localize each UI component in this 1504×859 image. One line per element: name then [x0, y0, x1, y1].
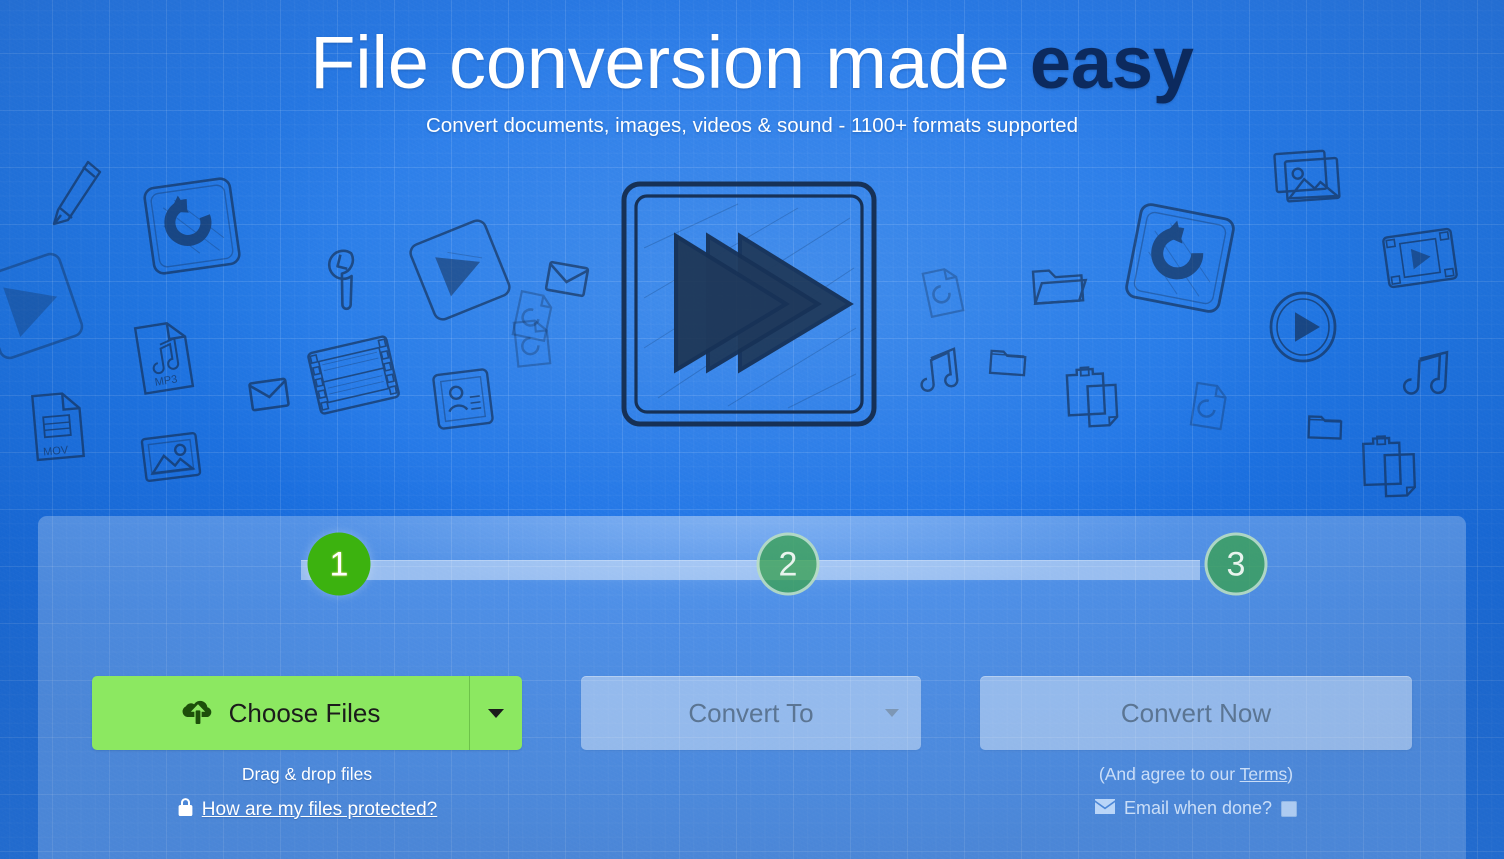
choose-files-dropdown-toggle[interactable]: [470, 676, 522, 750]
step-indicator-2[interactable]: 2: [757, 533, 820, 596]
cloud-upload-icon: [181, 697, 215, 730]
convert-now-label: Convert Now: [1121, 698, 1271, 729]
envelope-icon: [1095, 798, 1115, 819]
convert-now-captions: (And agree to our Terms) Email when done…: [980, 764, 1412, 819]
choose-files-captions: Drag & drop files How are my files prote…: [92, 764, 522, 822]
step-number-1: 1: [330, 547, 349, 581]
terms-prefix: (And agree to our: [1099, 764, 1240, 784]
convert-now-button[interactable]: Convert Now: [980, 676, 1412, 750]
conversion-panel: 1 2 3 Choose Files: [38, 516, 1466, 859]
step-progress-bar: [301, 560, 1200, 580]
choose-files-label: Choose Files: [229, 698, 381, 729]
step-number-2: 2: [779, 547, 798, 581]
page-title: File conversion made easy: [0, 0, 1504, 100]
chevron-down-icon: [885, 709, 899, 717]
convert-to-dropdown[interactable]: Convert To: [581, 676, 921, 750]
chevron-down-icon: [488, 709, 504, 718]
lock-icon: [177, 797, 194, 822]
step-indicator-1[interactable]: 1: [308, 533, 371, 596]
files-protected-row[interactable]: How are my files protected?: [92, 797, 522, 822]
terms-link[interactable]: Terms: [1240, 764, 1288, 784]
step-indicator-3[interactable]: 3: [1205, 533, 1268, 596]
step-number-3: 3: [1227, 547, 1246, 581]
email-when-done-checkbox[interactable]: [1281, 801, 1297, 817]
choose-files-main[interactable]: Choose Files: [92, 676, 470, 750]
page-title-emphasis: easy: [1030, 21, 1194, 104]
page-title-normal: File conversion made: [310, 21, 1030, 104]
choose-files-button[interactable]: Choose Files: [92, 676, 522, 750]
hero-section: File conversion made easy Convert docume…: [0, 0, 1504, 138]
terms-notice: (And agree to our Terms): [980, 764, 1412, 785]
page-subtitle: Convert documents, images, videos & soun…: [0, 100, 1504, 138]
convert-to-label: Convert To: [688, 698, 813, 729]
step-progress: 1 2 3: [38, 516, 1466, 636]
email-when-done-row[interactable]: Email when done?: [980, 798, 1412, 819]
drag-drop-hint: Drag & drop files: [92, 764, 522, 785]
files-protected-link[interactable]: How are my files protected?: [202, 799, 438, 821]
terms-suffix: ): [1287, 764, 1293, 784]
action-row: Choose Files Convert To Convert Now Drag…: [38, 676, 1466, 856]
email-when-done-label: Email when done?: [1124, 798, 1272, 819]
